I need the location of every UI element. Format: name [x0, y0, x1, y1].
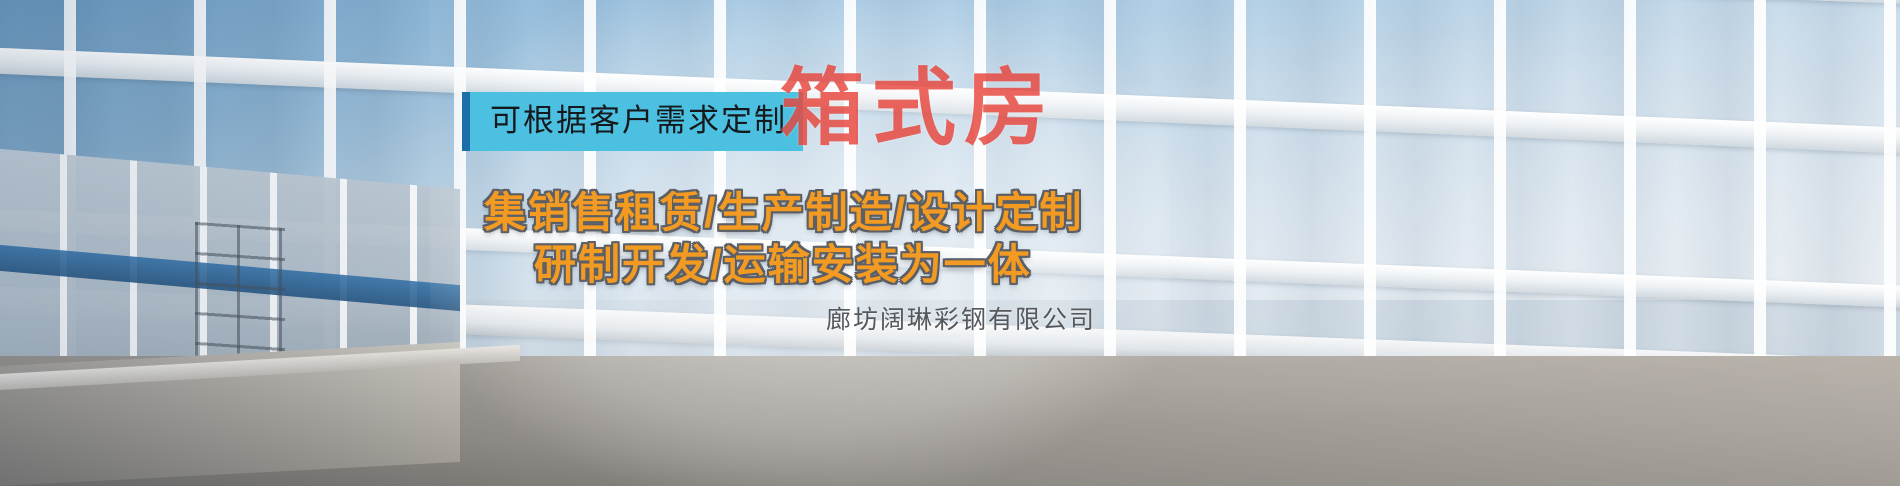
promo-banner: 可根据客户需求定制 箱式房 集销售租赁/生产制造/设计定制 研制开发/运输安装为… — [0, 0, 1900, 486]
custom-order-badge-label: 可根据客户需求定制 — [462, 92, 803, 151]
company-name: 廊坊阔琳彩钢有限公司 — [826, 308, 1096, 333]
banner-copy: 可根据客户需求定制 箱式房 集销售租赁/生产制造/设计定制 研制开发/运输安装为… — [0, 0, 1900, 486]
page-title: 箱式房 — [780, 66, 1056, 150]
services-line-1: 集销售租赁/生产制造/设计定制 — [484, 192, 1083, 234]
custom-order-badge: 可根据客户需求定制 — [462, 92, 803, 151]
services-line-2: 研制开发/运输安装为一体 — [534, 244, 1032, 286]
